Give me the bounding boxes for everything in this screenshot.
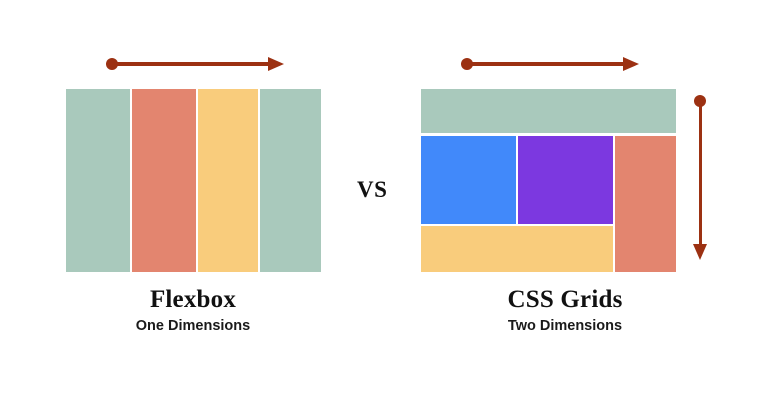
flex-item-1: [66, 89, 130, 272]
flexbox-subtitle: One Dimensions: [43, 316, 343, 336]
arrow-head-icon: [693, 244, 707, 260]
arrow-head-icon: [623, 57, 639, 71]
flexbox-horizontal-axis-arrow: [106, 54, 284, 74]
flexbox-container: [66, 89, 321, 272]
grid-vertical-axis-arrow: [690, 95, 710, 260]
grid-item-purple: [518, 136, 613, 224]
arrow-shaft-icon: [112, 62, 268, 66]
vs-label: VS: [357, 177, 387, 203]
flexbox-caption: Flexbox One Dimensions: [43, 286, 343, 336]
arrow-head-icon: [268, 57, 284, 71]
cssgrids-caption: CSS Grids Two Dimensions: [415, 286, 715, 336]
flexbox-title: Flexbox: [43, 286, 343, 314]
grid-horizontal-axis-arrow: [461, 54, 639, 74]
diagram-canvas: Flexbox One Dimensions VS CSS Grids Two …: [0, 0, 768, 404]
flex-item-4: [260, 89, 321, 272]
grid-item-blue: [421, 136, 516, 224]
grid-item-footer: [421, 226, 613, 272]
arrow-shaft-icon: [467, 62, 623, 66]
flex-item-2: [132, 89, 196, 272]
grid-container: [421, 89, 676, 272]
cssgrids-title: CSS Grids: [415, 286, 715, 314]
grid-item-sidebar: [615, 136, 676, 272]
flex-item-3: [198, 89, 258, 272]
grid-item-header: [421, 89, 676, 133]
cssgrids-subtitle: Two Dimensions: [415, 316, 715, 336]
arrow-shaft-icon: [699, 101, 702, 244]
